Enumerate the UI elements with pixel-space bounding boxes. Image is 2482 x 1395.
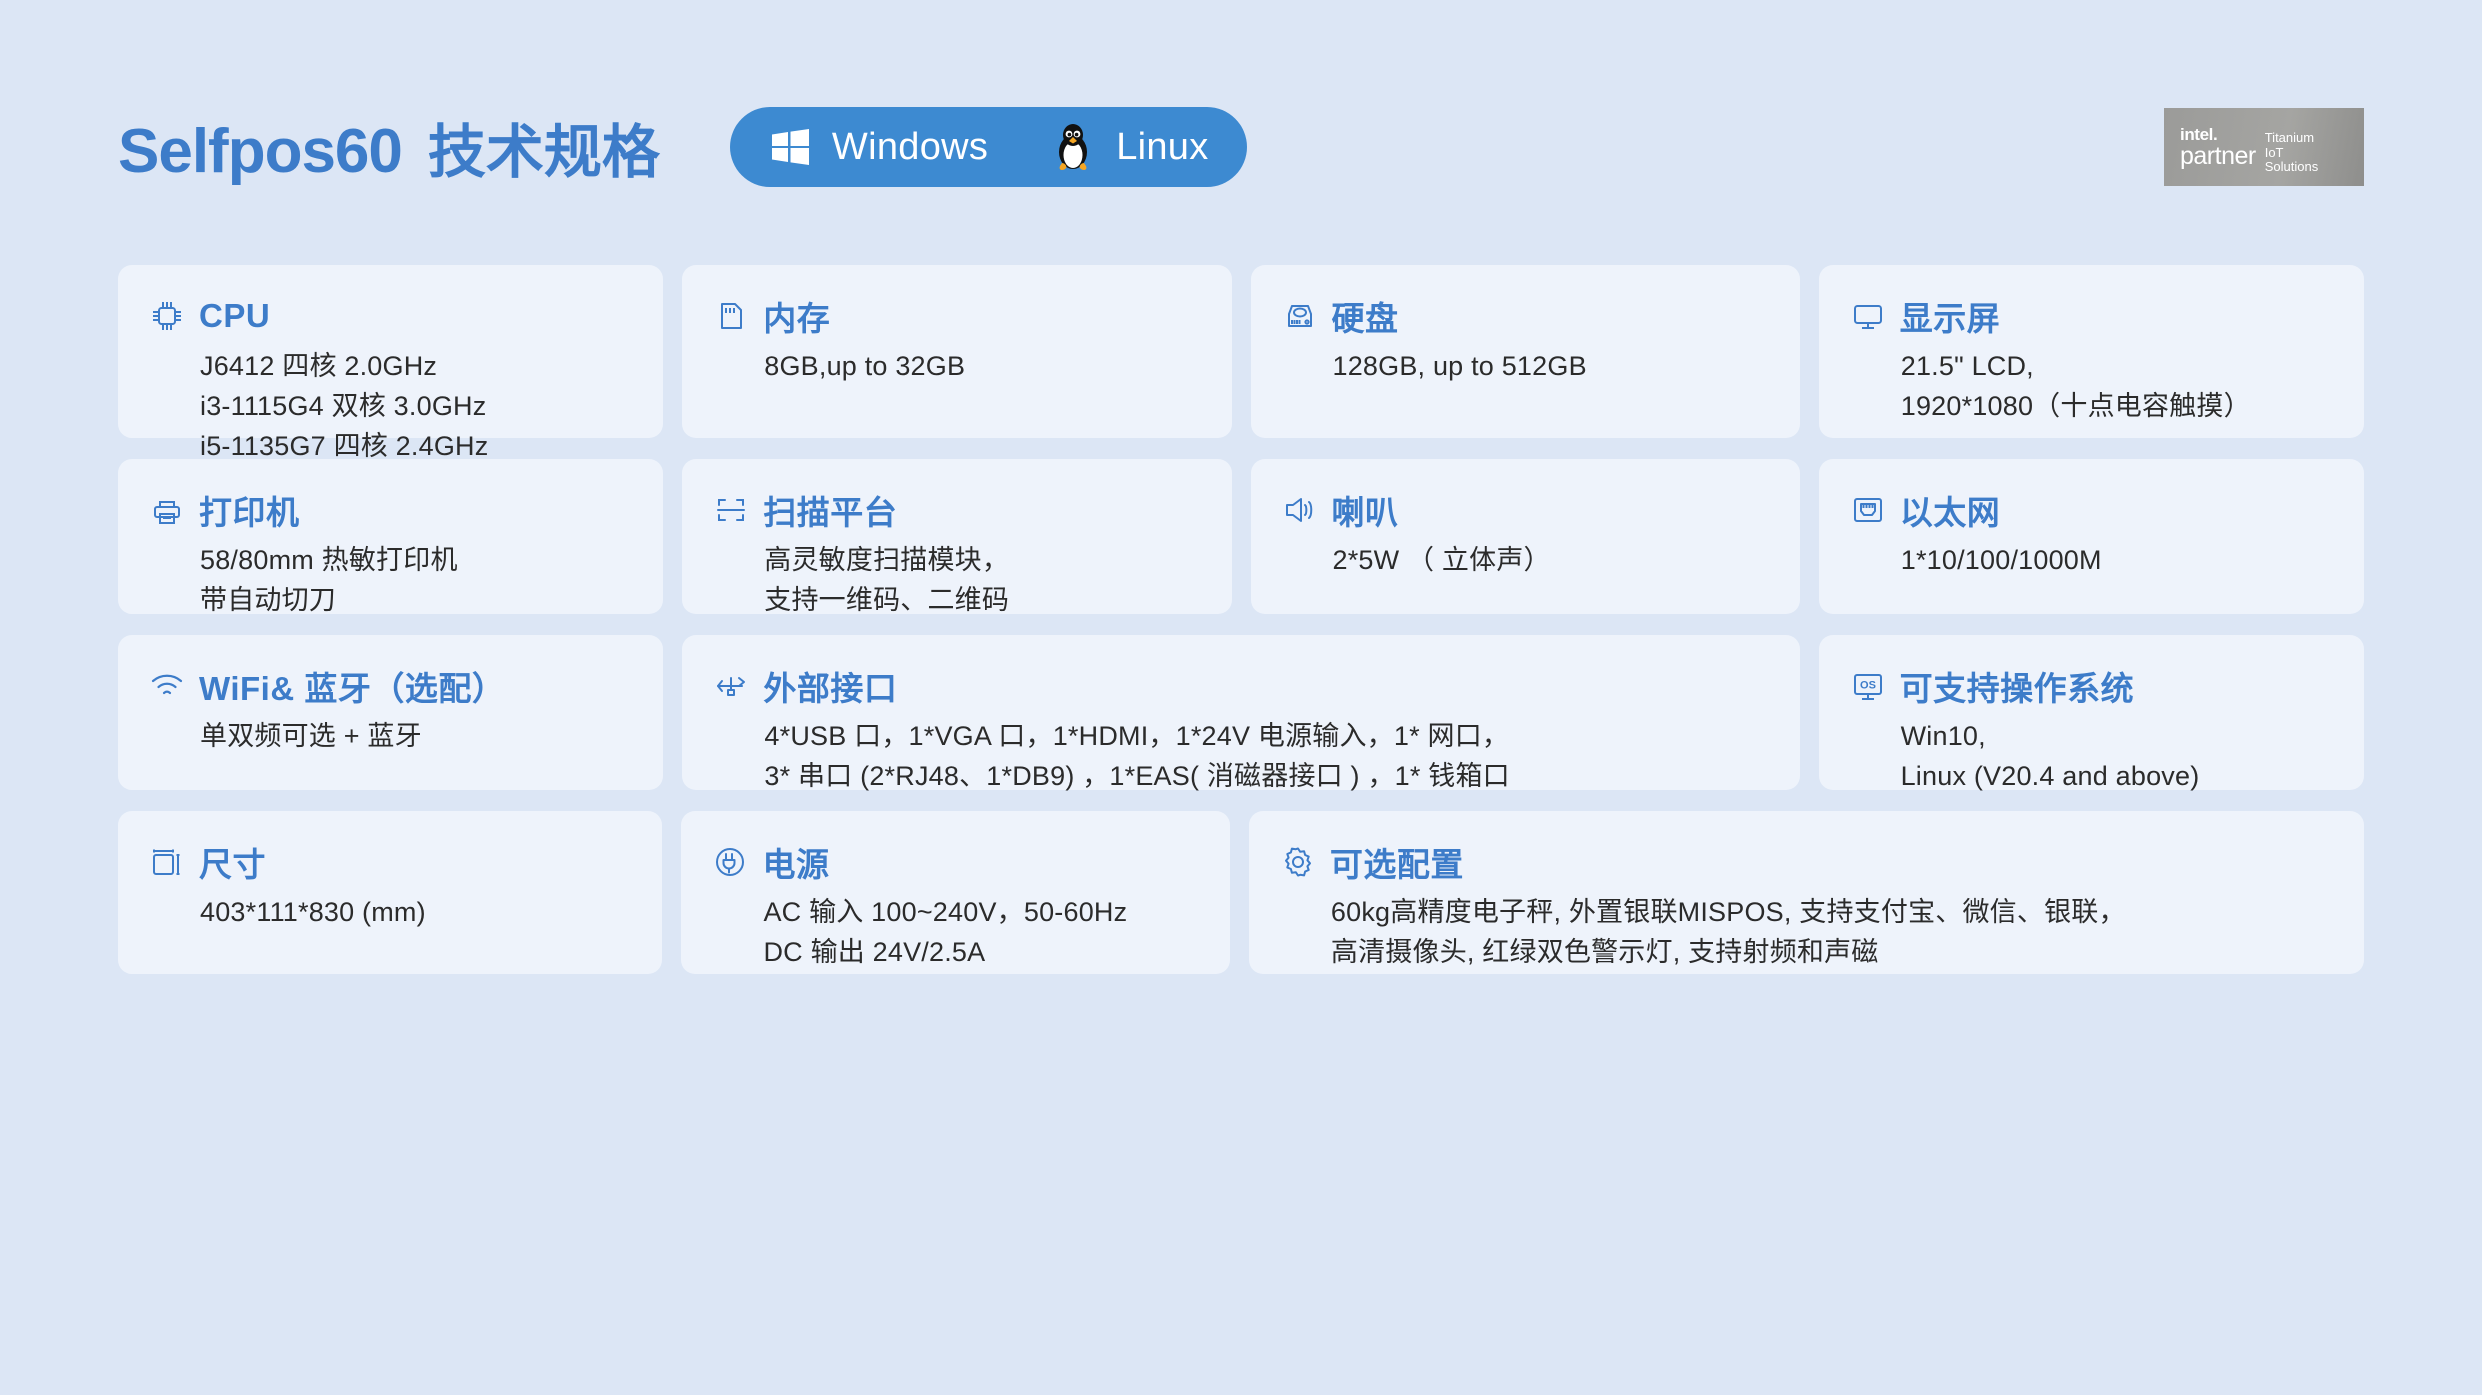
ethernet-port-icon [1849, 491, 1887, 529]
spec-line: 单双频可选 + 蓝牙 [200, 716, 633, 756]
card-header: 电源 [711, 839, 1199, 885]
spec-card-power: 电源 AC 输入 100~240V，50-60Hz DC 输出 24V/2.5A [681, 811, 1229, 974]
card-title: 扫描平台 [763, 486, 897, 534]
spec-card-display: 显示屏 21.5" LCD, 1920*1080（十点电容触摸） [1819, 265, 2364, 438]
dimension-icon [148, 843, 186, 881]
card-title: 电源 [762, 838, 829, 886]
spec-line: 带自动切刀 [200, 580, 633, 620]
card-body: 21.5" LCD, 1920*1080（十点电容触摸） [1849, 346, 2334, 426]
card-header: 可选配置 [1279, 839, 2334, 885]
card-body: 60kg高精度电子秤, 外置银联MISPOS, 支持支付宝、微信、银联， 高清摄… [1279, 892, 2334, 972]
card-title: 以太网 [1900, 486, 2001, 534]
spec-sheet-page: Selfpos60 技术规格 Windows [0, 0, 2482, 1395]
printer-icon [148, 491, 186, 529]
card-title: 可支持操作系统 [1900, 662, 2135, 710]
monitor-icon [1849, 297, 1887, 335]
card-body: 8GB,up to 32GB [712, 346, 1201, 386]
spec-line: 21.5" LCD, [1901, 346, 2334, 386]
card-title: 可选配置 [1330, 838, 1464, 886]
spec-card-operating-system: OS 可支持操作系统 Win10, Linux (V20.4 and above… [1819, 635, 2364, 790]
spec-row: WiFi& 蓝牙（选配） 单双频可选 + 蓝牙 [118, 635, 2364, 790]
card-title: CPU [199, 297, 270, 335]
scanner-frame-icon [712, 491, 750, 529]
card-title: 外部接口 [763, 662, 897, 710]
intel-badge-tier: Titanium IoT Solutions [2265, 131, 2318, 175]
spec-line: 3* 串口 (2*RJ48、1*DB9) ，1*EAS( 消磁器接口 ) ，1*… [764, 756, 1769, 796]
spec-line: 高灵敏度扫描模块， [764, 540, 1201, 580]
card-body: 单双频可选 + 蓝牙 [148, 716, 633, 756]
card-title: 尺寸 [199, 838, 266, 886]
card-header: 尺寸 [148, 839, 632, 885]
card-body: J6412 四核 2.0GHz i3-1115G4 双核 3.0GHz i5-1… [148, 346, 633, 466]
spec-line: AC 输入 100~240V，50-60Hz [763, 892, 1199, 932]
card-body: Win10, Linux (V20.4 and above) [1849, 716, 2334, 796]
intel-partner-badge: intel. partner Titanium IoT Solutions [2164, 108, 2364, 186]
spec-card-speaker: 喇叭 2*5W （ 立体声） [1251, 459, 1800, 614]
spec-card-memory: 内存 8GB,up to 32GB [682, 265, 1231, 438]
wifi-icon [148, 667, 186, 705]
card-header: 喇叭 [1281, 487, 1770, 533]
spec-line: Win10, [1901, 716, 2334, 756]
hard-disk-icon [1281, 297, 1319, 335]
spec-line: 1920*1080（十点电容触摸） [1901, 386, 2334, 426]
windows-label: Windows [832, 126, 988, 169]
spec-line: 403*111*830 (mm) [200, 892, 632, 932]
linux-penguin-icon [1050, 122, 1096, 172]
card-title: 显示屏 [1900, 292, 2001, 340]
gear-icon [1279, 843, 1317, 881]
card-title: 硬盘 [1332, 292, 1399, 340]
spec-line: 4*USB 口，1*VGA 口，1*HDMI，1*24V 电源输入，1* 网口， [764, 716, 1769, 756]
usb-connector-icon [712, 667, 750, 705]
spec-line: 2*5W （ 立体声） [1333, 540, 1770, 580]
spec-card-external-interfaces: 外部接口 4*USB 口，1*VGA 口，1*HDMI，1*24V 电源输入，1… [682, 635, 1799, 790]
windows-logo-icon [768, 125, 812, 169]
intel-tier-line-2: IoT [2265, 146, 2318, 161]
spec-line: 支持一维码、二维码 [764, 580, 1201, 620]
card-header: 以太网 [1849, 487, 2334, 533]
card-title: 打印机 [199, 486, 300, 534]
os-screen-icon: OS [1849, 667, 1887, 705]
spec-grid: CPU J6412 四核 2.0GHz i3-1115G4 双核 3.0GHz … [118, 265, 2364, 974]
card-body: 4*USB 口，1*VGA 口，1*HDMI，1*24V 电源输入，1* 网口，… [712, 716, 1769, 796]
spec-row: 尺寸 403*111*830 (mm) 电 [118, 811, 2364, 974]
svg-text:OS: OS [1860, 680, 1876, 692]
spec-card-ethernet: 以太网 1*10/100/1000M [1819, 459, 2364, 614]
intel-program: partner [2180, 144, 2256, 169]
card-header: 外部接口 [712, 663, 1769, 709]
spec-card-scanner: 扫描平台 高灵敏度扫描模块， 支持一维码、二维码 [682, 459, 1231, 614]
intel-tier-line-3: Solutions [2265, 160, 2318, 175]
spec-line: 128GB, up to 512GB [1333, 346, 1770, 386]
spec-line: 高清摄像头, 红绿双色警示灯, 支持射频和声磁 [1331, 932, 2334, 972]
card-header: 内存 [712, 293, 1201, 339]
spec-card-optional-config: 可选配置 60kg高精度电子秤, 外置银联MISPOS, 支持支付宝、微信、银联… [1249, 811, 2364, 974]
card-header: OS 可支持操作系统 [1849, 663, 2334, 709]
product-model: Selfpos60 [118, 116, 402, 187]
memory-card-icon [712, 297, 750, 335]
card-title: 内存 [763, 292, 830, 340]
spec-card-dimensions: 尺寸 403*111*830 (mm) [118, 811, 662, 974]
intel-tier-line-1: Titanium [2265, 131, 2318, 146]
intel-badge-left: intel. partner [2180, 126, 2256, 169]
card-title: 喇叭 [1332, 486, 1399, 534]
card-header: 扫描平台 [712, 487, 1201, 533]
power-plug-icon [711, 843, 749, 881]
spec-line: DC 输出 24V/2.5A [763, 932, 1199, 972]
card-header: WiFi& 蓝牙（选配） [148, 663, 633, 709]
page-header: Selfpos60 技术规格 Windows [118, 92, 2364, 202]
page-title: Selfpos60 技术规格 [118, 105, 660, 189]
card-body: 2*5W （ 立体声） [1281, 540, 1770, 580]
spec-line: 1*10/100/1000M [1901, 540, 2334, 580]
spec-line: 58/80mm 热敏打印机 [200, 540, 633, 580]
card-header: 打印机 [148, 487, 633, 533]
spec-card-cpu: CPU J6412 四核 2.0GHz i3-1115G4 双核 3.0GHz … [118, 265, 663, 438]
card-body: AC 输入 100~240V，50-60Hz DC 输出 24V/2.5A [711, 892, 1199, 972]
spec-row: CPU J6412 四核 2.0GHz i3-1115G4 双核 3.0GHz … [118, 265, 2364, 438]
spec-line: Linux (V20.4 and above) [1901, 756, 2334, 796]
spec-card-storage: 硬盘 128GB, up to 512GB [1251, 265, 1800, 438]
spec-card-printer: 打印机 58/80mm 热敏打印机 带自动切刀 [118, 459, 663, 614]
spec-line: i3-1115G4 双核 3.0GHz [200, 386, 633, 426]
linux-label: Linux [1116, 126, 1208, 169]
card-body: 58/80mm 热敏打印机 带自动切刀 [148, 540, 633, 620]
card-body: 403*111*830 (mm) [148, 892, 632, 932]
spec-card-wifi-bluetooth: WiFi& 蓝牙（选配） 单双频可选 + 蓝牙 [118, 635, 663, 790]
cpu-chip-icon [148, 297, 186, 335]
card-body: 1*10/100/1000M [1849, 540, 2334, 580]
card-body: 高灵敏度扫描模块， 支持一维码、二维码 [712, 540, 1201, 620]
page-title-suffix: 技术规格 [428, 105, 660, 189]
spec-line: J6412 四核 2.0GHz [200, 346, 633, 386]
card-header: CPU [148, 293, 633, 339]
spec-line: 60kg高精度电子秤, 外置银联MISPOS, 支持支付宝、微信、银联， [1331, 892, 2334, 932]
card-header: 显示屏 [1849, 293, 2334, 339]
card-header: 硬盘 [1281, 293, 1770, 339]
spec-line: 8GB,up to 32GB [764, 346, 1201, 386]
os-support-badge: Windows Linux [730, 107, 1247, 187]
spec-row: 打印机 58/80mm 热敏打印机 带自动切刀 扫描平台 [118, 459, 2364, 614]
intel-brand: intel. [2180, 126, 2256, 143]
card-title: WiFi& 蓝牙（选配） [199, 662, 505, 710]
card-body: 128GB, up to 512GB [1281, 346, 1770, 386]
speaker-icon [1281, 491, 1319, 529]
